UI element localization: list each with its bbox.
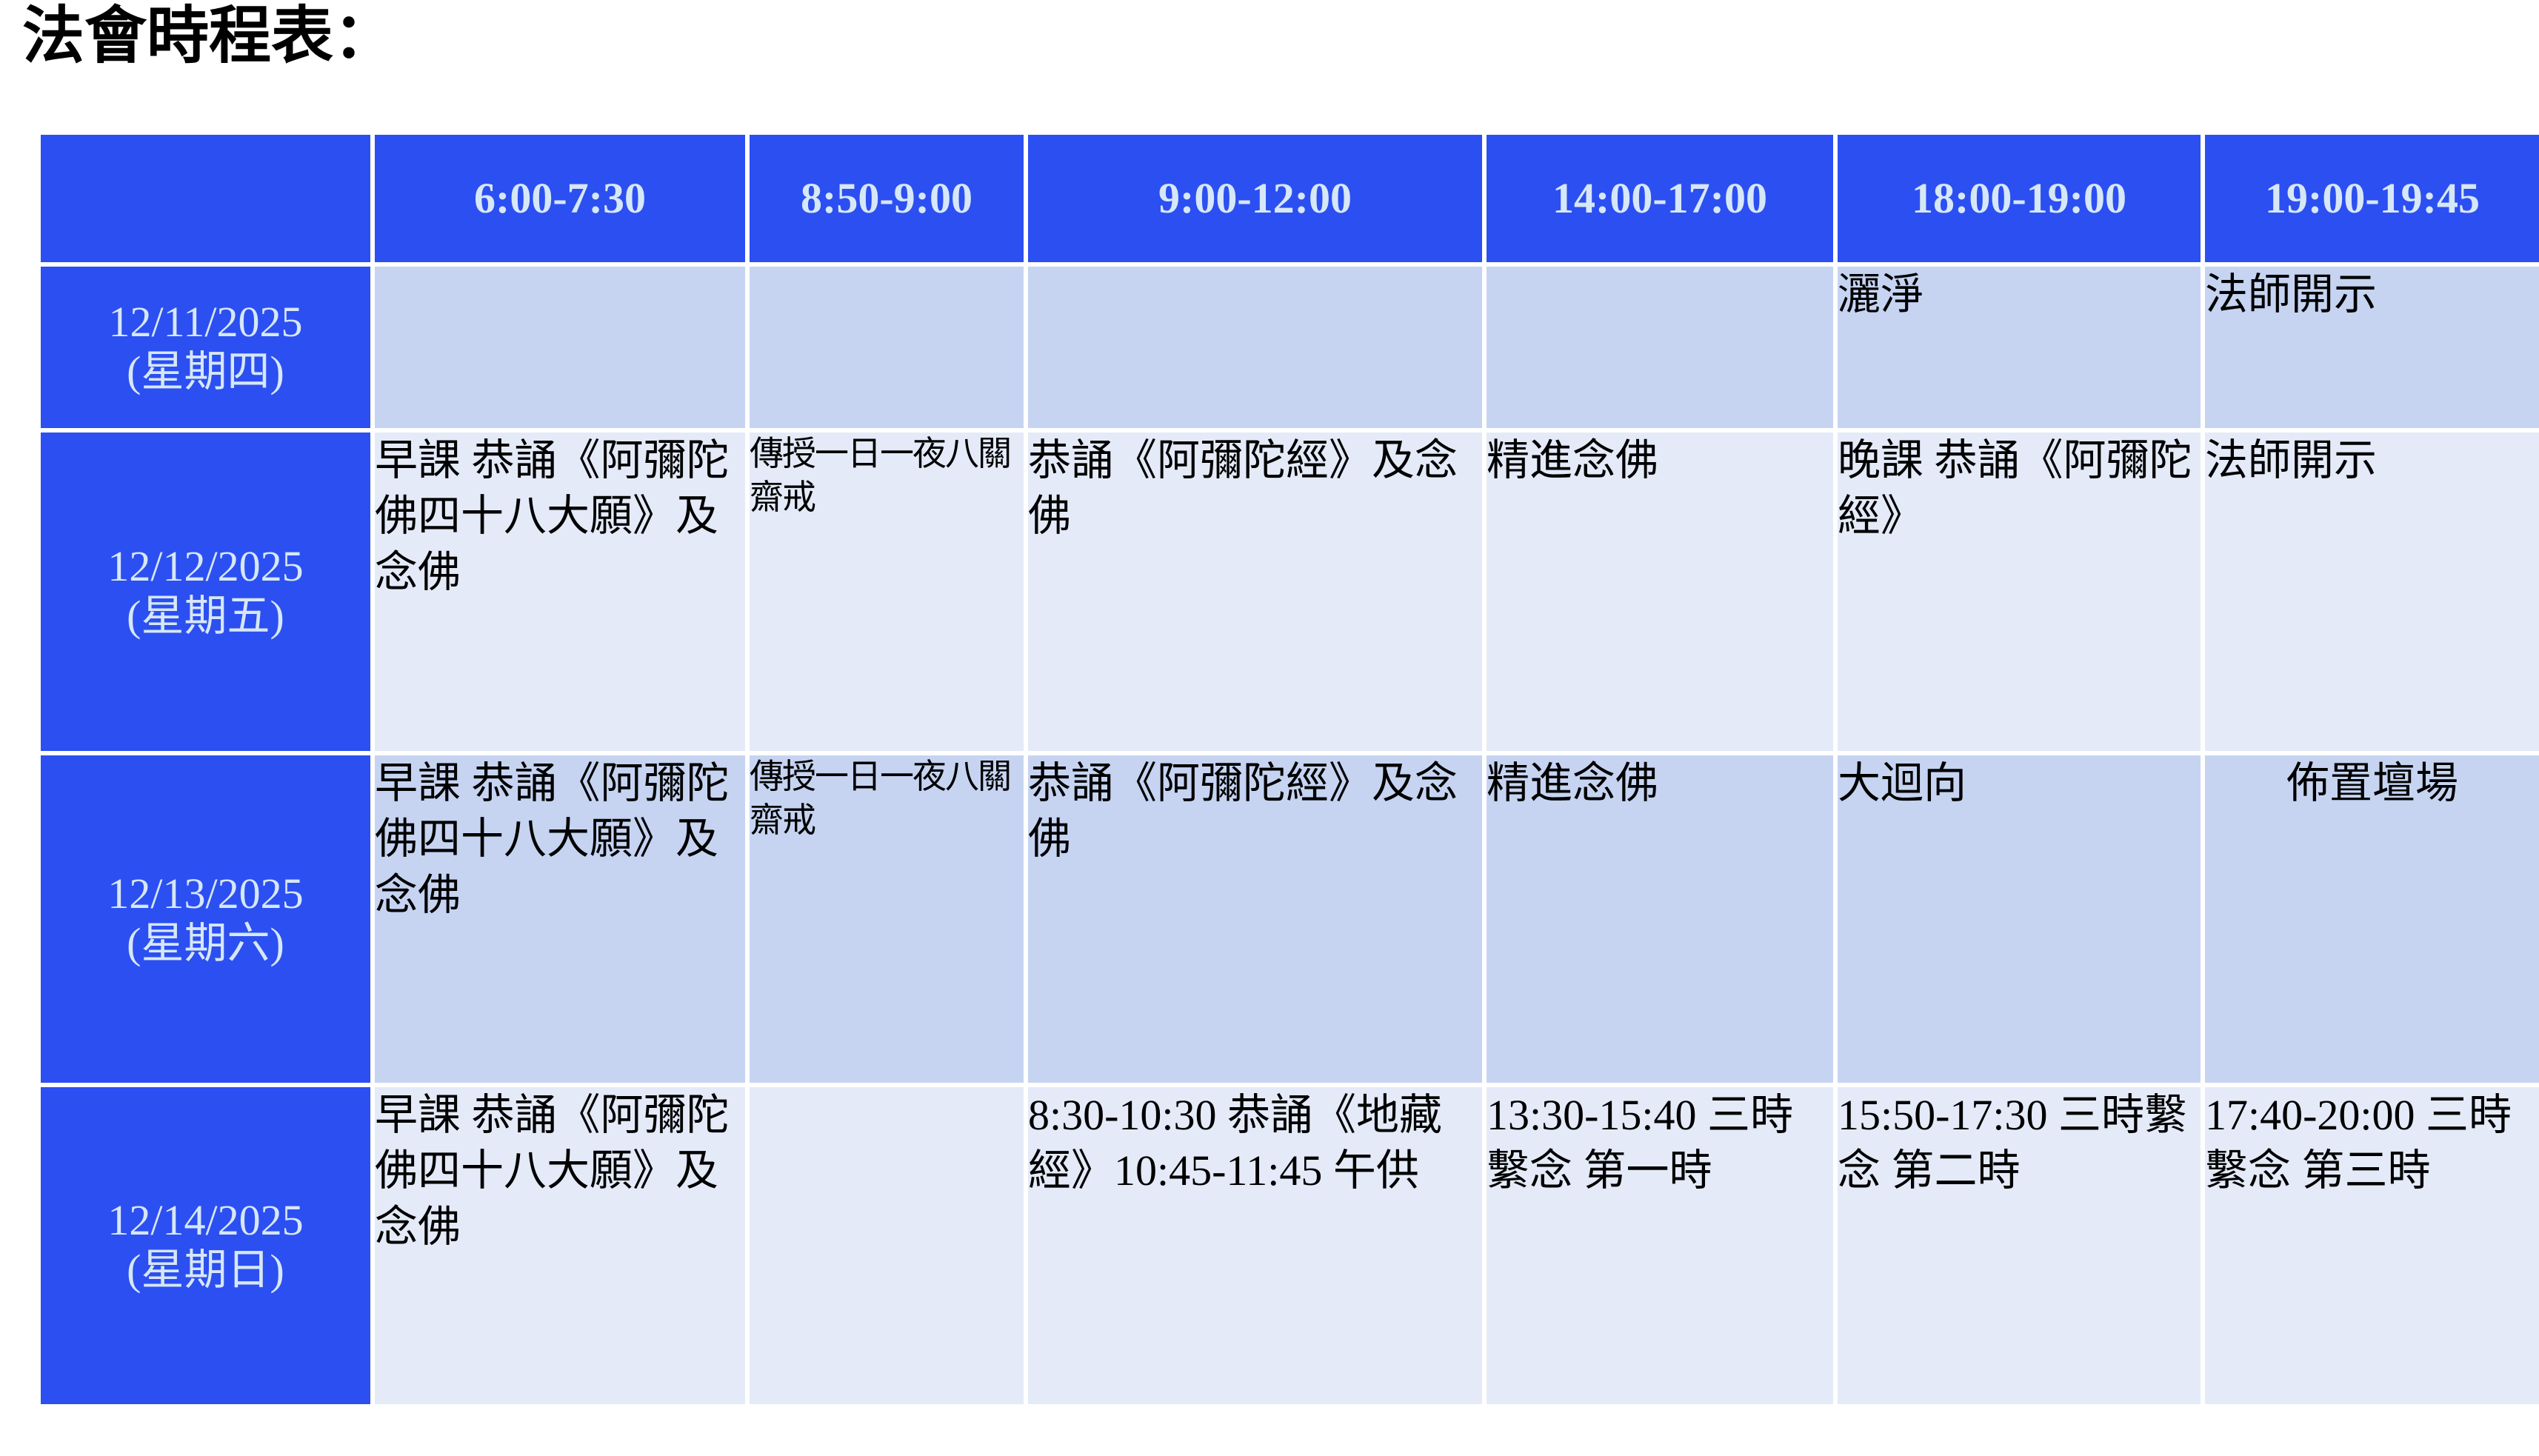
table-row: 12/14/2025 (星期日) 早課 恭誦《阿彌陀佛四十八大願》及念佛 8:3…: [41, 1087, 2539, 1404]
cell-r3-c3: 恭誦《阿彌陀經》及念佛: [1028, 755, 1482, 1083]
schedule-table-wrapper: 6:00-7:30 8:50-9:00 9:00-12:00 14:00-17:…: [41, 135, 2522, 1404]
column-header-0900-1200: 9:00-12:00: [1028, 135, 1482, 262]
date-line-1: 12/13/2025: [41, 869, 370, 919]
column-header-1900-1945: 19:00-19:45: [2205, 135, 2539, 262]
date-line-1: 12/12/2025: [41, 542, 370, 592]
cell-r4-c6: 17:40-20:00 三時繫念 第三時: [2205, 1087, 2539, 1404]
column-header-0600-0730: 6:00-7:30: [375, 135, 745, 262]
cell-r2-c1: 早課 恭誦《阿彌陀佛四十八大願》及念佛: [375, 433, 745, 751]
cell-r3-c1: 早課 恭誦《阿彌陀佛四十八大願》及念佛: [375, 755, 745, 1083]
cell-r2-c6: 法師開示: [2205, 433, 2539, 751]
table-header-row: 6:00-7:30 8:50-9:00 9:00-12:00 14:00-17:…: [41, 135, 2539, 262]
date-cell-1214: 12/14/2025 (星期日): [41, 1087, 370, 1404]
cell-r4-c3: 8:30-10:30 恭誦《地藏經》10:45-11:45 午供: [1028, 1087, 1482, 1404]
cell-r4-c5: 15:50-17:30 三時繫念 第二時: [1838, 1087, 2201, 1404]
cell-r3-c5: 大迴向: [1838, 755, 2201, 1083]
column-header-date: [41, 135, 370, 262]
date-line-1: 12/11/2025: [41, 298, 370, 347]
date-line-2: (星期六): [41, 919, 370, 969]
column-header-1400-1700: 14:00-17:00: [1487, 135, 1833, 262]
date-cell-1213: 12/13/2025 (星期六): [41, 755, 370, 1083]
page-title: 法會時程表：: [22, 4, 396, 67]
cell-r4-c2: [750, 1087, 1024, 1404]
table-row: 12/12/2025 (星期五) 早課 恭誦《阿彌陀佛四十八大願》及念佛 傳授一…: [41, 433, 2539, 751]
date-cell-1212: 12/12/2025 (星期五): [41, 433, 370, 751]
cell-r3-c4: 精進念佛: [1487, 755, 1833, 1083]
cell-r2-c2: 傳授一日一夜八關齋戒: [750, 433, 1024, 751]
cell-r2-c4: 精進念佛: [1487, 433, 1833, 751]
date-line-2: (星期五): [41, 592, 370, 641]
table-row: 12/13/2025 (星期六) 早課 恭誦《阿彌陀佛四十八大願》及念佛 傳授一…: [41, 755, 2539, 1083]
date-line-1: 12/14/2025: [41, 1196, 370, 1246]
cell-r4-c1: 早課 恭誦《阿彌陀佛四十八大願》及念佛: [375, 1087, 745, 1404]
column-header-0850-0900: 8:50-9:00: [750, 135, 1024, 262]
cell-r2-c3: 恭誦《阿彌陀經》及念佛: [1028, 433, 1482, 751]
cell-r1-c4: [1487, 267, 1833, 428]
schedule-table: 6:00-7:30 8:50-9:00 9:00-12:00 14:00-17:…: [36, 130, 2539, 1409]
cell-r3-c6: 佈置壇場: [2205, 755, 2539, 1083]
date-line-2: (星期日): [41, 1246, 370, 1295]
cell-r1-c6: 法師開示: [2205, 267, 2539, 428]
cell-r1-c2: [750, 267, 1024, 428]
cell-r1-c1: [375, 267, 745, 428]
date-line-2: (星期四): [41, 347, 370, 397]
table-row: 12/11/2025 (星期四) 灑淨 法師開示: [41, 267, 2539, 428]
column-header-1800-1900: 18:00-19:00: [1838, 135, 2201, 262]
cell-r4-c4: 13:30-15:40 三時繫念 第一時: [1487, 1087, 1833, 1404]
cell-r1-c3: [1028, 267, 1482, 428]
cell-r2-c5: 晚課 恭誦《阿彌陀經》: [1838, 433, 2201, 751]
cell-r3-c2: 傳授一日一夜八關齋戒: [750, 755, 1024, 1083]
schedule-page: 法會時程表： 6:00-7:30 8:50-9:00 9:00-12:00 14…: [0, 0, 2539, 1456]
date-cell-1211: 12/11/2025 (星期四): [41, 267, 370, 428]
cell-r1-c5: 灑淨: [1838, 267, 2201, 428]
